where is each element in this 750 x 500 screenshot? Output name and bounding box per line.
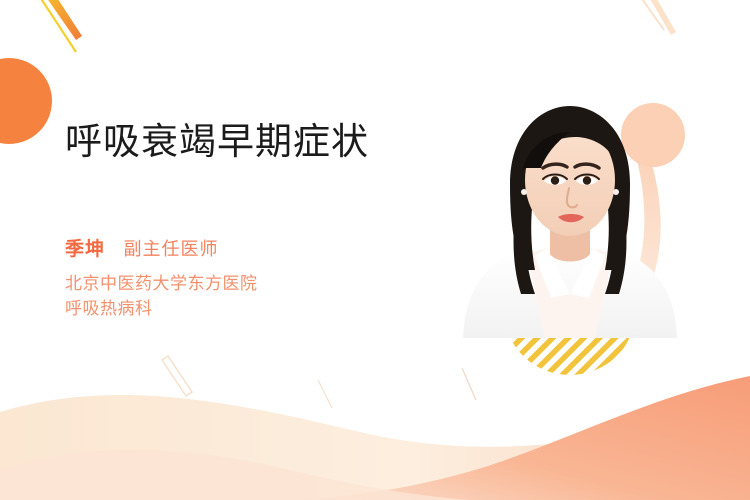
eye-left xyxy=(551,176,559,184)
diagonal-stroke-outline-icon xyxy=(162,356,476,408)
doctor-department: 呼吸热病科 xyxy=(65,296,445,321)
diagonal-stroke-yellow-icon xyxy=(38,0,76,52)
diagonal-stroke-orange-icon xyxy=(44,0,82,40)
circle-orange-icon xyxy=(0,58,52,144)
doctor-byline: 季坤 副主任医师 xyxy=(65,234,445,261)
doctor-title: 副主任医师 xyxy=(123,239,218,259)
doctor-info-card: 呼吸衰竭早期症状 季坤 副主任医师 北京中医药大学东方医院 呼吸热病科 xyxy=(0,0,750,500)
wave-coral xyxy=(0,376,750,500)
diagonal-stroke-peach-icon xyxy=(640,0,676,35)
wave-cream xyxy=(0,395,750,500)
page-title: 呼吸衰竭早期症状 xyxy=(65,118,445,166)
earring-left xyxy=(521,189,527,195)
doctor-name: 季坤 xyxy=(65,239,105,260)
text-block: 呼吸衰竭早期症状 季坤 副主任医师 北京中医药大学东方医院 呼吸热病科 xyxy=(65,118,445,321)
earring-right xyxy=(613,189,619,195)
doctor-hospital: 北京中医药大学东方医院 xyxy=(65,271,445,296)
eye-right xyxy=(583,176,591,184)
doctor-portrait xyxy=(455,88,685,338)
